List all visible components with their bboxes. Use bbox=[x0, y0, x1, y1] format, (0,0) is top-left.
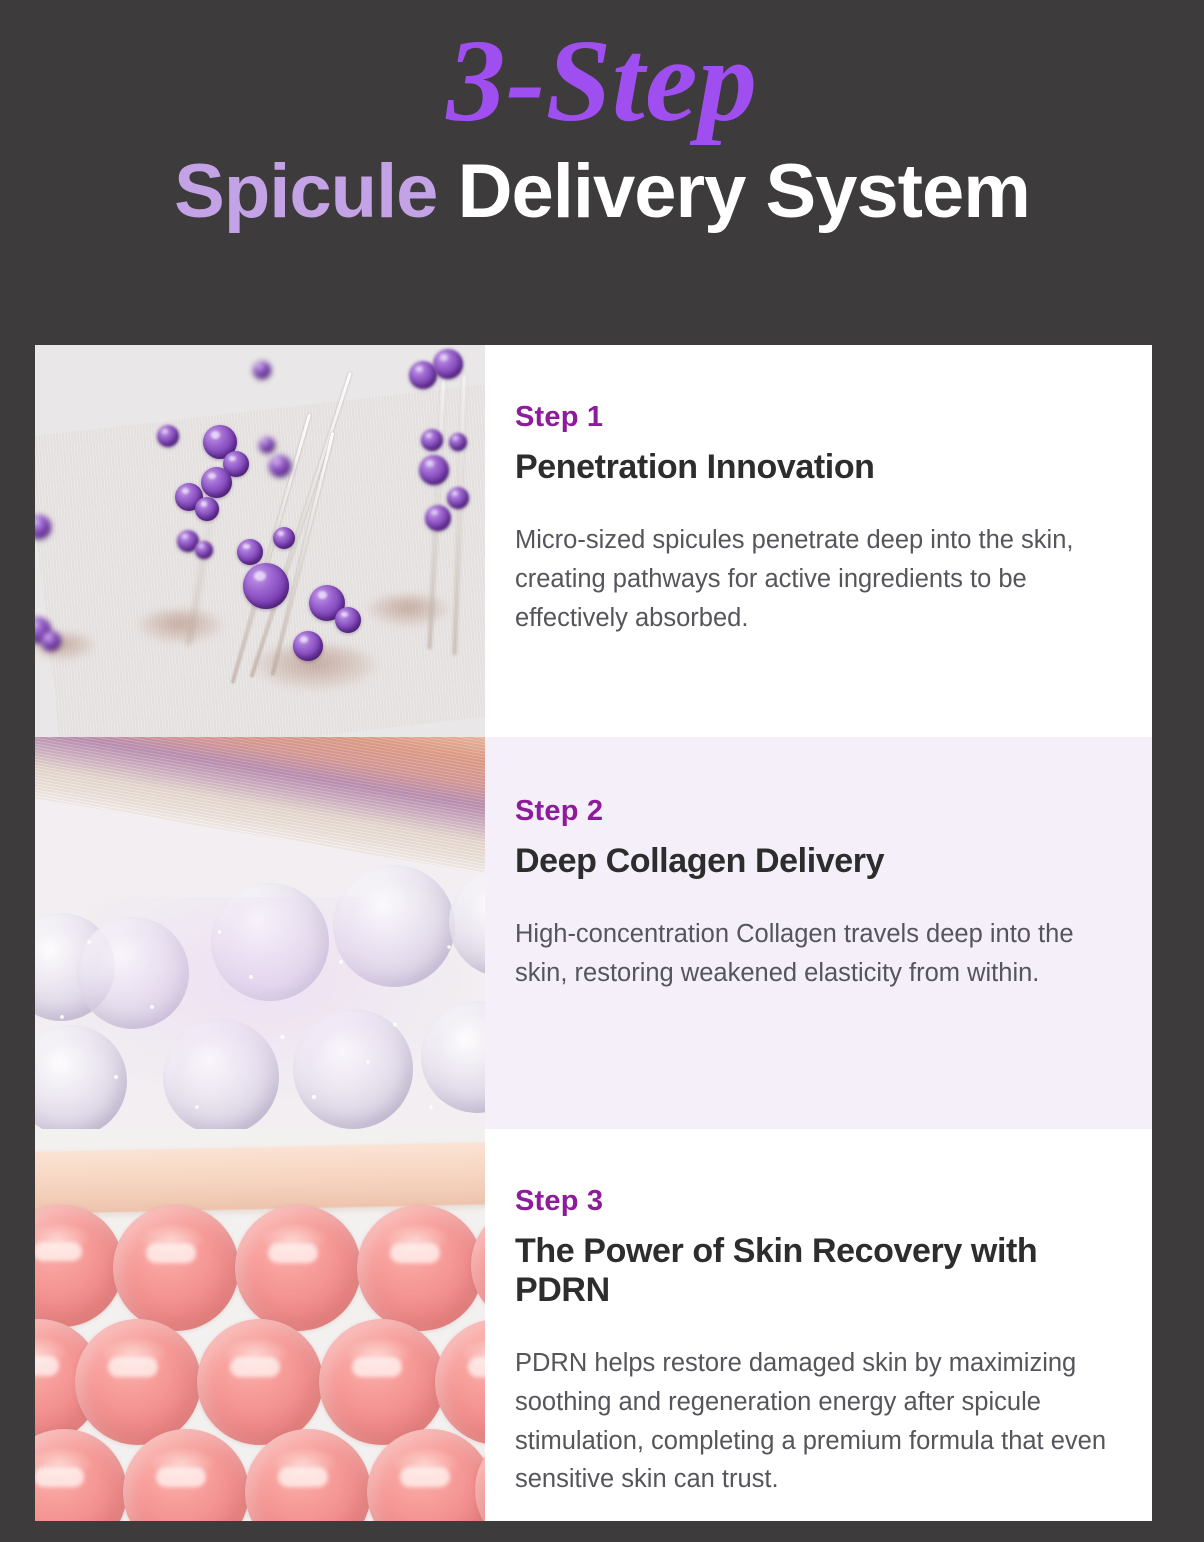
spicule-bead bbox=[195, 497, 219, 521]
sparkle-particles bbox=[35, 887, 485, 1129]
pdrn-sphere bbox=[35, 1429, 127, 1521]
step-row-1: Step 1 Penetration Innovation Micro-size… bbox=[35, 345, 1152, 737]
pdrn-sphere bbox=[197, 1319, 323, 1445]
pdrn-sphere bbox=[35, 1205, 123, 1327]
spicule-bead bbox=[41, 631, 61, 651]
spicule-bead bbox=[433, 349, 463, 379]
headline-main: Spicule Delivery System bbox=[174, 149, 1030, 234]
spicule-bead bbox=[269, 455, 291, 477]
step-2-body: High-concentration Collagen travels deep… bbox=[515, 915, 1112, 993]
skin-dimple bbox=[365, 595, 451, 627]
spicule-bead bbox=[157, 425, 179, 447]
spicule-bead bbox=[243, 563, 289, 609]
spicule-bead bbox=[195, 541, 213, 559]
step-row-3: Step 3 The Power of Skin Recovery with P… bbox=[35, 1129, 1152, 1521]
step-3-image bbox=[35, 1129, 485, 1521]
step-3-text: Step 3 The Power of Skin Recovery with P… bbox=[485, 1129, 1152, 1521]
pdrn-sphere bbox=[471, 1205, 485, 1325]
spicule-bead bbox=[259, 437, 275, 453]
step-1-body: Micro-sized spicules penetrate deep into… bbox=[515, 521, 1112, 637]
headline-accent-word: Spicule bbox=[174, 149, 437, 234]
spicule-bead bbox=[419, 455, 449, 485]
spicule-bead bbox=[201, 467, 232, 498]
headline-script: 3-Step bbox=[446, 18, 757, 143]
step-3-body: PDRN helps restore damaged skin by maxim… bbox=[515, 1344, 1112, 1499]
step-2-title: Deep Collagen Delivery bbox=[515, 842, 1112, 881]
steps-card: Step 1 Penetration Innovation Micro-size… bbox=[35, 345, 1152, 1521]
spicule-bead bbox=[335, 607, 361, 633]
spicule-bead bbox=[447, 487, 469, 509]
step-1-label: Step 1 bbox=[515, 401, 1112, 434]
step-3-label: Step 3 bbox=[515, 1185, 1112, 1218]
step-1-title: Penetration Innovation bbox=[515, 448, 1112, 487]
skin-dimple bbox=[135, 610, 225, 644]
step-1-text: Step 1 Penetration Innovation Micro-size… bbox=[485, 345, 1152, 737]
pdrn-sphere bbox=[357, 1205, 483, 1331]
skin-layer-texture bbox=[35, 737, 485, 889]
step-1-image bbox=[35, 345, 485, 737]
skin-band bbox=[35, 1142, 485, 1214]
pdrn-sphere bbox=[235, 1205, 361, 1331]
pdrn-sphere bbox=[75, 1319, 201, 1445]
pdrn-sphere bbox=[113, 1205, 239, 1331]
step-row-2: Step 2 Deep Collagen Delivery High-conce… bbox=[35, 737, 1152, 1129]
spicule-bead bbox=[273, 527, 295, 549]
spicule-bead bbox=[293, 631, 323, 661]
pdrn-sphere bbox=[435, 1319, 485, 1445]
pdrn-sphere bbox=[319, 1319, 445, 1445]
spicule-bead bbox=[425, 505, 451, 531]
spicule-bead bbox=[237, 539, 263, 565]
step-2-label: Step 2 bbox=[515, 795, 1112, 828]
page-header: 3-Step Spicule Delivery System bbox=[0, 0, 1204, 345]
step-3-title: The Power of Skin Recovery with PDRN bbox=[515, 1232, 1112, 1310]
spicule-bead bbox=[421, 429, 443, 451]
headline-rest-words: Delivery System bbox=[458, 149, 1030, 234]
step-2-image bbox=[35, 737, 485, 1129]
spicule-bead bbox=[449, 433, 467, 451]
spicule-bead bbox=[253, 361, 271, 379]
step-2-text: Step 2 Deep Collagen Delivery High-conce… bbox=[485, 737, 1152, 1129]
